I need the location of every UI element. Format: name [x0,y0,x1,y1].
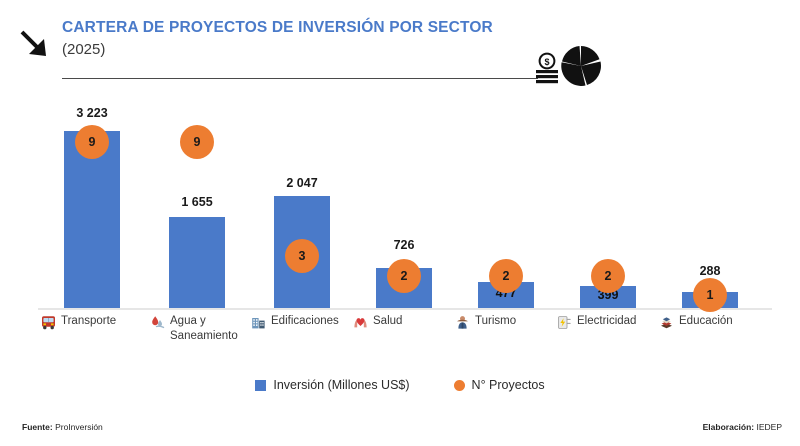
water-drop-icon [149,314,166,331]
legend-item-proyectos[interactable]: N° Proyectos [454,378,545,392]
category-edificaciones: Edificaciones [250,314,354,331]
category-label: Electricidad [577,314,636,329]
category-agua: Agua y Saneamiento [149,314,245,344]
bar-value-label: 288 [700,264,721,278]
bubble-proyectos[interactable]: 2 [591,259,625,293]
chart-legend: Inversión (Millones US$) N° Proyectos [0,378,800,392]
legend-square-icon [255,380,266,391]
category-label: Educación [679,314,733,329]
category-label: Salud [373,314,402,329]
legend-item-inversion[interactable]: Inversión (Millones US$) [255,378,409,392]
title-block: CARTERA DE PROYECTOS DE INVERSIÓN POR SE… [62,18,752,60]
category-electricidad: Electricidad [556,314,660,331]
source-value: ProInversión [53,422,103,432]
category-label: Turismo [475,314,516,329]
legend-label: N° Proyectos [472,378,545,392]
chart-column-edificaciones[interactable]: 2 047 3 Edificac [250,92,354,370]
electricity-plug-icon [556,314,573,331]
category-transporte: Transporte [40,314,144,331]
category-label: Agua y Saneamiento [170,314,245,344]
category-turismo: Turismo [454,314,558,331]
chart-column-educacion[interactable]: 288 1 Educación [658,92,762,370]
health-hands-heart-icon [352,314,369,331]
chart-column-turismo[interactable]: 477 2 Turismo [454,92,558,370]
page-subtitle: (2025) [62,39,752,60]
arrow-down-right-icon [14,24,54,64]
bubble-proyectos[interactable]: 2 [489,259,523,293]
page-title: CARTERA DE PROYECTOS DE INVERSIÓN POR SE… [62,18,752,38]
books-icon [658,314,675,331]
category-salud: Salud [352,314,456,331]
category-educacion: Educación [658,314,762,331]
chart-header: CARTERA DE PROYECTOS DE INVERSIÓN POR SE… [0,0,800,92]
title-divider [62,78,538,79]
bubble-proyectos[interactable]: 3 [285,239,319,273]
pie-chart-money-icon: $ [531,44,603,90]
category-label: Transporte [61,314,116,329]
chart-footer: Fuente: ProInversión Elaboración: IEDEP [0,418,800,446]
bubble-proyectos[interactable]: 9 [180,125,214,159]
category-label: Edificaciones [271,314,339,329]
bus-icon [40,314,57,331]
bar-value-label: 2 047 [286,176,317,190]
source-label: Fuente: [22,422,53,432]
legend-circle-icon [454,380,465,391]
legend-label: Inversión (Millones US$) [273,378,409,392]
bar-value-label: 3 223 [76,106,107,120]
bubble-proyectos[interactable]: 2 [387,259,421,293]
bubble-proyectos[interactable]: 9 [75,125,109,159]
credit-note: Elaboración: IEDEP [703,422,782,432]
bar-inversion[interactable] [169,217,225,308]
credit-value: IEDEP [754,422,782,432]
chart-column-agua[interactable]: 1 655 9 Agua y Saneamiento [145,92,249,370]
bar-value-label: 1 655 [181,195,212,209]
source-note: Fuente: ProInversión [22,422,103,432]
credit-label: Elaboración: [703,422,754,432]
chart-plot-area: 3 223 9 Transporte 1 655 9 [0,92,800,370]
bubble-proyectos[interactable]: 1 [693,278,727,312]
tourist-person-icon [454,314,471,331]
buildings-icon [250,314,267,331]
chart-column-transporte[interactable]: 3 223 9 Transporte [40,92,144,370]
bar-value-label: 726 [394,238,415,252]
chart-column-electricidad[interactable]: 399 2 Electricidad [556,92,660,370]
svg-text:$: $ [544,57,549,67]
chart-column-salud[interactable]: 726 2 Salud [352,92,456,370]
